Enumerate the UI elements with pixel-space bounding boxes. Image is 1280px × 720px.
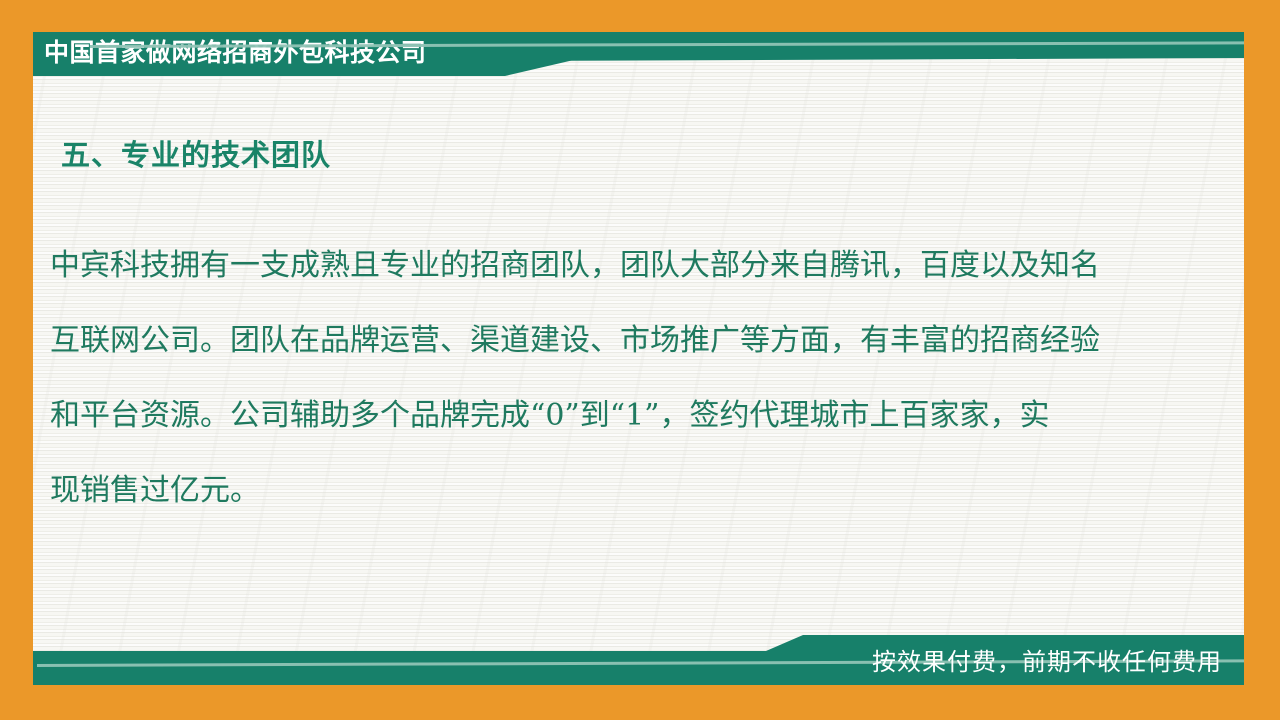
header-title: 中国首家做网络招商外包科技公司 <box>44 34 427 72</box>
frame-bottom-orange <box>0 685 1280 720</box>
section-title: 五、专业的技术团队 <box>61 132 331 174</box>
frame-left-orange <box>0 0 33 720</box>
frame-top-orange <box>0 0 1280 32</box>
footer-slogan: 按效果付费，前期不收任何费用 <box>872 645 1222 679</box>
header-block-shape: 中国首家做网络招商外包科技公司 <box>33 31 578 76</box>
footer-band: 按效果付费，前期不收任何费用 <box>33 633 1244 685</box>
header-band: 中国首家做网络招商外包科技公司 <box>33 31 1244 79</box>
body-line: 和平台资源。公司辅助多个品牌完成“0”到“1”，签约代理城市上百家家，实 <box>50 378 1185 453</box>
body-line: 互联网公司。团队在品牌运营、渠道建设、市场推广等方面，有丰富的招商经验 <box>50 303 1185 378</box>
body-paragraph: 中宾科技拥有一支成熟且专业的招商团队，团队大部分来自腾讯，百度以及知名 互联网公… <box>50 228 1185 528</box>
frame-right-orange <box>1244 0 1280 720</box>
body-line: 中宾科技拥有一支成熟且专业的招商团队，团队大部分来自腾讯，百度以及知名 <box>50 228 1185 303</box>
body-line: 现销售过亿元。 <box>50 453 1185 528</box>
slide: 中国首家做网络招商外包科技公司 五、专业的技术团队 中宾科技拥有一支成熟且专业的… <box>0 0 1280 720</box>
